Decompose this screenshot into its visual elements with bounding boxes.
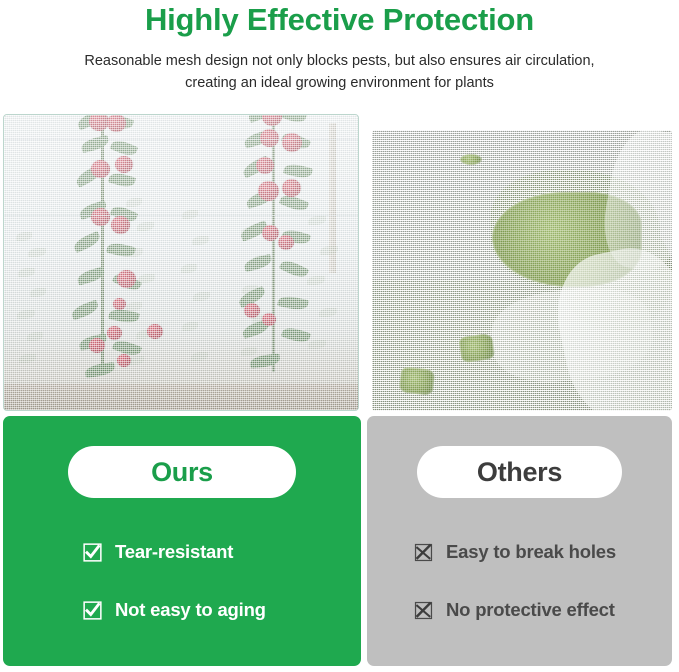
others-feature-row-1: Easy to break holes <box>414 541 616 563</box>
subtitle-line-1: Reasonable mesh design not only blocks p… <box>10 50 670 72</box>
ours-feature-label-2: Not easy to aging <box>115 599 266 621</box>
apple-fruit <box>91 208 110 226</box>
checkbox-crossed-icon <box>414 601 433 620</box>
ours-pill-badge: Ours <box>68 446 296 498</box>
apple-fruit <box>113 298 126 310</box>
apple-fruit <box>244 303 260 318</box>
photo-orchard-under-mesh <box>3 114 359 411</box>
apple-tree-left <box>59 114 169 392</box>
ours-pill-label: Ours <box>151 457 213 488</box>
apple-fruit <box>89 338 105 353</box>
apple-fruit <box>115 156 133 173</box>
apple-fruit <box>260 129 279 147</box>
apple-fruit <box>117 270 136 288</box>
net-hole-small <box>399 366 436 395</box>
others-feature-label-1: Easy to break holes <box>446 541 616 563</box>
apple-tree-right <box>226 114 336 392</box>
checkbox-crossed-icon <box>414 543 433 562</box>
orchard-wire <box>4 139 358 140</box>
others-feature-row-2: No protective effect <box>414 599 615 621</box>
net-hole-small <box>458 333 495 363</box>
apple-fruit <box>282 179 301 197</box>
apple-fruit <box>111 216 130 234</box>
background-tree-row <box>14 222 50 392</box>
apple-fruit <box>262 313 276 326</box>
apple-fruit <box>89 114 109 131</box>
apple-fruit <box>278 235 294 250</box>
page-title: Highly Effective Protection <box>0 0 679 38</box>
ours-feature-label-1: Tear-resistant <box>115 541 233 563</box>
orchard-wire <box>4 215 358 216</box>
photo-torn-netting <box>372 130 672 411</box>
apple-fruit <box>262 114 282 126</box>
apple-fruit <box>91 160 110 178</box>
apple-fruit <box>258 181 279 201</box>
apple-fruit <box>282 133 302 152</box>
apple-fruit <box>117 354 131 367</box>
product-feature-banner: Highly Effective Protection Reasonable m… <box>0 0 679 672</box>
apple-fruit <box>147 324 163 339</box>
apple-fruit <box>107 114 126 132</box>
others-pill-badge: Others <box>417 446 622 498</box>
checkbox-checked-icon <box>83 543 102 562</box>
apple-fruit <box>256 157 274 174</box>
others-pill-label: Others <box>477 457 562 488</box>
panel-ours: Ours Tear-resistant Not easy to aging <box>3 416 361 666</box>
panel-others: Others Easy to break holes No protective… <box>367 416 672 666</box>
apple-fruit <box>262 225 279 241</box>
header: Highly Effective Protection Reasonable m… <box>0 0 679 94</box>
apple-fruit <box>107 326 122 340</box>
others-feature-label-2: No protective effect <box>446 599 615 621</box>
net-hole-small <box>460 154 482 165</box>
ours-feature-row-2: Not easy to aging <box>83 599 266 621</box>
subtitle-line-2: creating an ideal growing environment fo… <box>10 72 670 94</box>
ours-feature-row-1: Tear-resistant <box>83 541 233 563</box>
background-tree-row <box>179 202 213 392</box>
page-subtitle: Reasonable mesh design not only blocks p… <box>10 38 670 94</box>
checkbox-checked-icon <box>83 601 102 620</box>
